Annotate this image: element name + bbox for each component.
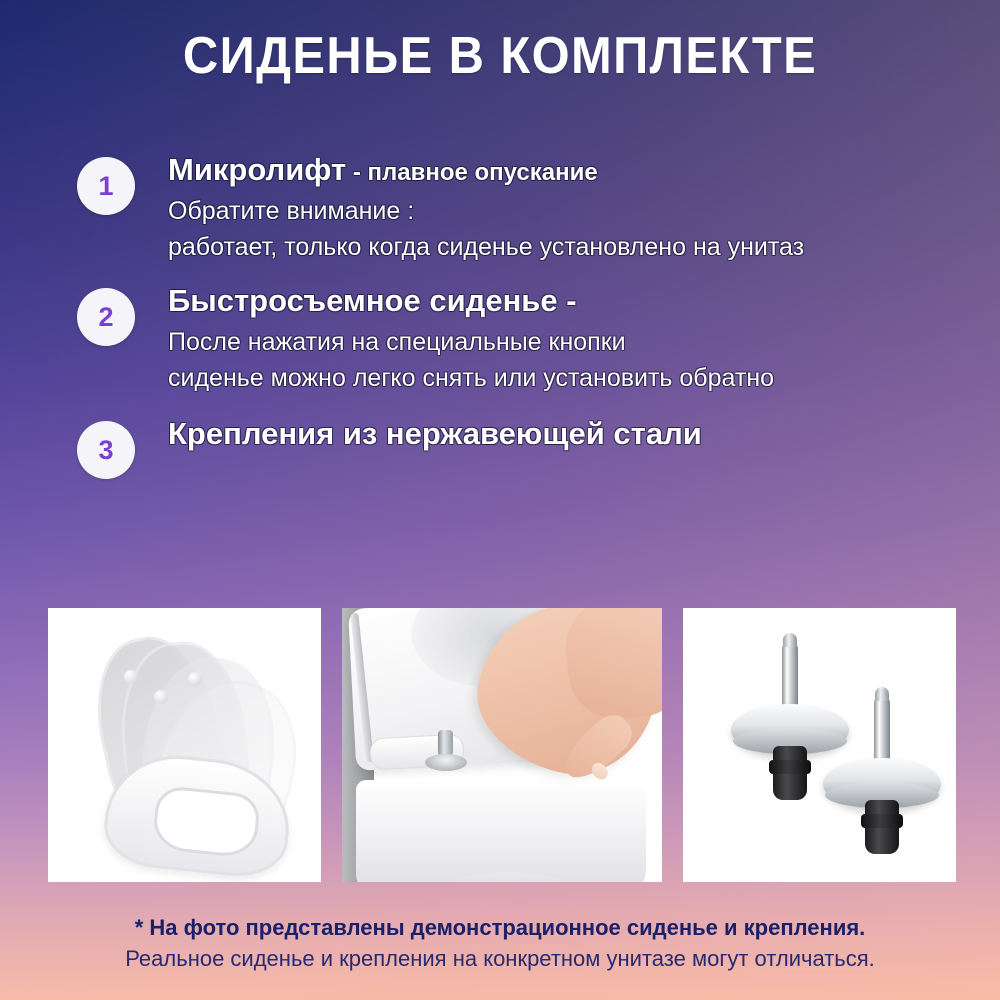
footer-disclaimer: * На фото представлены демонстрационное … <box>0 912 1000 975</box>
feature-number-badge-2: 2 <box>77 288 135 346</box>
footer-line-2: Реальное сиденье и крепления на конкретн… <box>0 943 1000 975</box>
seat-bumper-icon-1 <box>124 670 138 684</box>
feature-item-3: 3 Крепления из нержавеющей стали <box>0 414 1000 457</box>
fixing-rubber-plug-1 <box>773 746 807 800</box>
footer-line-1: * На фото представлены демонстрационное … <box>0 912 1000 943</box>
feature-text-3: Крепления из нержавеющей стали <box>168 414 1000 457</box>
feature-heading-1: Микролифт - плавное опускание <box>168 150 980 193</box>
feature-heading-3: Крепления из нержавеющей стали <box>168 414 980 457</box>
feature-heading-rest-1: - плавное опускание <box>346 159 598 186</box>
quick-release-illustration <box>342 608 662 882</box>
seat-bumper-icon-3 <box>188 672 202 686</box>
seat-bumper-icon-2 <box>154 690 168 704</box>
toilet-bowl <box>356 780 646 882</box>
feature-list: 1 Микролифт - плавное опускание Обратите… <box>0 150 1000 463</box>
mounting-post-1 <box>434 730 458 772</box>
feature-number-badge-3: 3 <box>77 421 135 479</box>
feature-line-2-1: После нажатия на специальные кнопки <box>168 324 980 360</box>
feature-heading-2: Быстросъемное сиденье - <box>168 281 980 324</box>
feature-text-1: Микролифт - плавное опускание Обратите в… <box>168 150 1000 265</box>
seat-opening <box>151 785 261 860</box>
feature-line-1-2: работает, только когда сиденье установле… <box>168 229 980 265</box>
forearm <box>563 608 662 721</box>
feature-heading-bold-2: Быстросъемное сиденье - <box>168 283 577 318</box>
infographic-page: СИДЕНЬЕ В КОМПЛЕКТЕ 1 Микролифт - плавно… <box>0 0 1000 1000</box>
page-title: СИДЕНЬЕ В КОМПЛЕКТЕ <box>30 26 970 86</box>
soft-close-seat-illustration <box>48 608 321 882</box>
toilet-bowl-notch <box>448 872 568 882</box>
feature-text-2: Быстросъемное сиденье - После нажатия на… <box>168 281 1000 396</box>
photo-panel-quick-release <box>342 608 662 882</box>
fixing-rubber-plug-2 <box>865 800 899 854</box>
toilet-seat-edge <box>350 612 374 762</box>
mounting-post-base-1 <box>425 754 467 771</box>
photo-panel-soft-close-seat <box>48 608 321 882</box>
photo-gallery <box>48 608 956 882</box>
feature-heading-bold-1: Микролифт <box>168 152 346 187</box>
feature-item-1: 1 Микролифт - плавное опускание Обратите… <box>0 150 1000 265</box>
feature-line-2-2: сиденье можно легко снять или установить… <box>168 360 980 396</box>
photo-panel-steel-fixings <box>683 608 956 882</box>
feature-heading-bold-3: Крепления из нержавеющей стали <box>168 416 702 451</box>
steel-fixing-2 <box>823 696 941 856</box>
mounting-post-pin-1 <box>438 730 453 756</box>
feature-number-badge-1: 1 <box>77 157 135 215</box>
feature-line-1-1: Обратите внимание : <box>168 193 980 229</box>
feature-item-2: 2 Быстросъемное сиденье - После нажатия … <box>0 281 1000 396</box>
steel-fixings-illustration <box>683 608 956 882</box>
